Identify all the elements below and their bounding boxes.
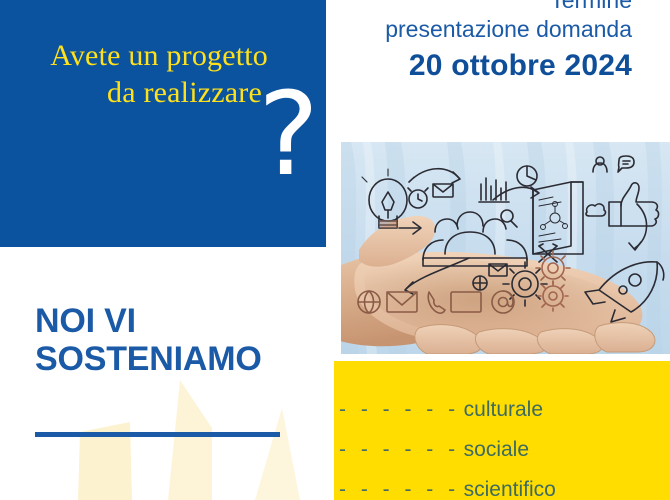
deadline-label-presentazione: presentazione domanda (336, 15, 632, 44)
hand-innovation-photo (341, 142, 670, 354)
support-underline-rule (35, 432, 280, 437)
category-label-scientifico: scientifico (464, 479, 556, 500)
photo-artwork (341, 142, 670, 354)
deadline-date: 20 ottobre 2024 (336, 48, 632, 84)
category-label-culturale: culturale (464, 399, 543, 420)
support-heading: NOI VI SOSTENIAMO (35, 302, 262, 378)
dash-leader: - - - - - - (339, 439, 460, 460)
list-item: - - - - - -scientifico (334, 479, 670, 500)
poster-canvas: Avete un progetto da realizzare ? NOI VI… (0, 0, 670, 500)
yellow-category-band: - - - - - -culturale - - - - - -sociale … (334, 361, 670, 500)
deadline-block: Termine presentazione domanda 20 ottobre… (336, 0, 670, 84)
support-panel: NOI VI SOSTENIAMO (0, 247, 334, 500)
dash-leader: - - - - - - (339, 479, 460, 500)
headline-line-1: Avete un progetto (0, 38, 272, 75)
question-mark-icon: ? (258, 78, 319, 193)
support-line-2: SOSTENIAMO (35, 340, 262, 378)
list-item: - - - - - -sociale (334, 439, 670, 460)
headline-text: Avete un progetto da realizzare (0, 38, 272, 111)
headline-line-2: da realizzare (0, 75, 272, 112)
deadline-label-termine: Termine (336, 0, 632, 15)
category-label-sociale: sociale (464, 439, 529, 460)
blue-headline-panel: Avete un progetto da realizzare ? (0, 0, 326, 247)
support-line-1: NOI VI (35, 302, 262, 340)
list-item: - - - - - -culturale (334, 399, 670, 420)
dash-leader: - - - - - - (339, 399, 460, 420)
